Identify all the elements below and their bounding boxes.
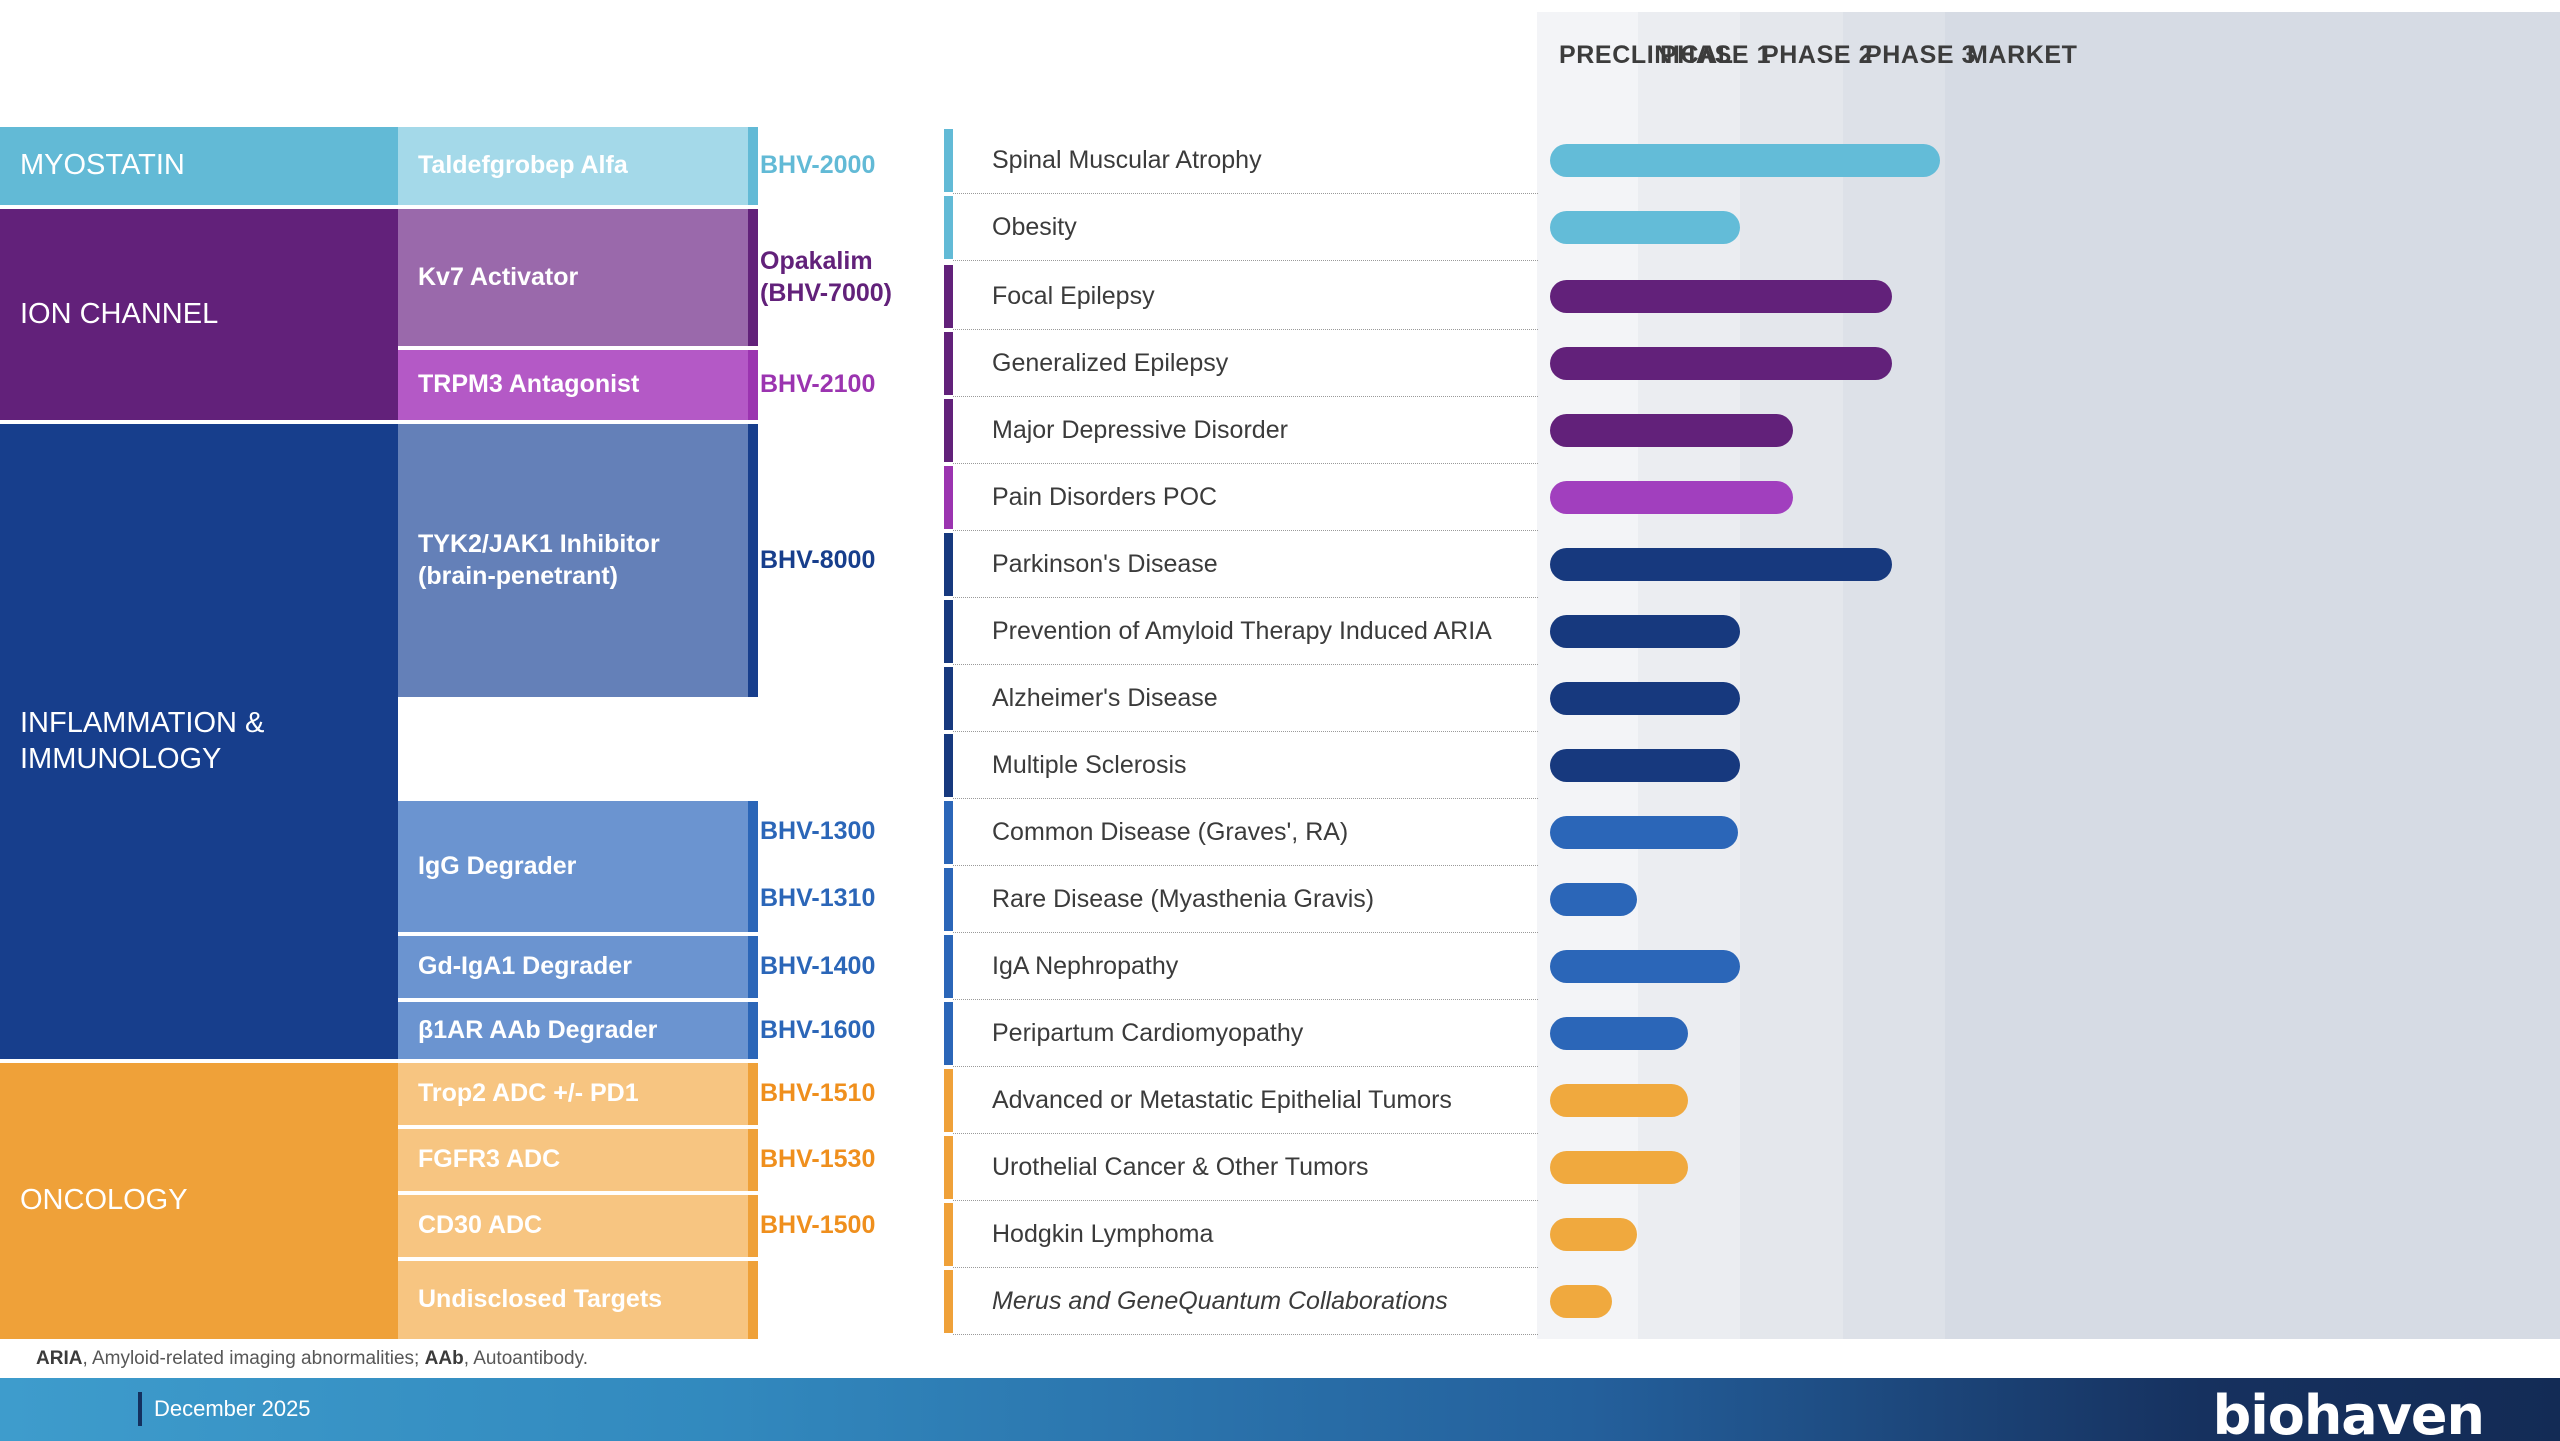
footer-date: December 2025	[154, 1396, 311, 1422]
footnote-abbrev-term: AAb	[425, 1348, 464, 1369]
progress-bar[interactable]	[1550, 1151, 1688, 1184]
molecule-label: TYK2/JAK1 Inhibitor (brain-penetrant)	[418, 529, 660, 592]
progress-bar[interactable]	[1550, 1285, 1612, 1318]
molecule-label: CD30 ADC	[418, 1210, 542, 1241]
program-code-opakalim[interactable]: Opakalim (BHV-7000)	[760, 209, 940, 346]
molecule-block-9[interactable]: FGFR3 ADC	[398, 1129, 758, 1191]
progress-bar[interactable]	[1550, 1218, 1637, 1251]
therapeutic-area-label: INFLAMMATION & IMMUNOLOGY	[20, 706, 264, 777]
market-ext-body	[2048, 127, 2560, 1339]
phase-header-phase-3[interactable]: PHASE 3	[1843, 0, 1945, 122]
indication-label: Common Disease (Graves', RA)	[992, 799, 1533, 866]
molecule-block-1[interactable]: Taldefgrobep Alfa	[398, 127, 758, 205]
indication-label: Hodgkin Lymphoma	[992, 1201, 1533, 1268]
indication-row[interactable]: IgA Nephropathy	[944, 933, 1537, 1000]
molecule-edge-accent	[748, 127, 758, 205]
indication-row[interactable]: Major Depressive Disorder	[944, 397, 1537, 464]
indication-label: Spinal Muscular Atrophy	[992, 127, 1533, 194]
progress-bar[interactable]	[1550, 481, 1793, 514]
indication-accent-bar	[944, 600, 953, 663]
indication-accent-bar	[944, 734, 953, 797]
indication-accent-bar	[944, 533, 953, 596]
pipeline-chart: PRECLINICALPHASE 1PHASE 2PHASE 3MARKET M…	[0, 0, 2560, 1441]
indication-row[interactable]: Peripartum Cardiomyopathy	[944, 1000, 1537, 1067]
indication-accent-bar	[944, 196, 953, 259]
indication-label: Pain Disorders POC	[992, 464, 1533, 531]
indication-label: Generalized Epilepsy	[992, 330, 1533, 397]
indication-row[interactable]: Hodgkin Lymphoma	[944, 1201, 1537, 1268]
molecule-block-11[interactable]: Undisclosed Targets	[398, 1261, 758, 1339]
program-code-bhv-1600[interactable]: BHV-1600	[760, 1002, 940, 1059]
indication-label: Alzheimer's Disease	[992, 665, 1533, 732]
progress-bar[interactable]	[1550, 144, 1940, 177]
therapeutic-area-label: MYOSTATIN	[20, 148, 185, 183]
molecule-edge-accent	[748, 801, 758, 932]
molecule-edge-accent	[748, 936, 758, 998]
program-code-bhv-2000[interactable]: BHV-2000	[760, 127, 940, 205]
program-code-bhv-2100[interactable]: BHV-2100	[760, 350, 940, 420]
indication-label: Urothelial Cancer & Other Tumors	[992, 1134, 1533, 1201]
molecule-block-7[interactable]: β1AR AAb Degrader	[398, 1002, 758, 1059]
indication-label: Obesity	[992, 194, 1533, 261]
indication-label: Peripartum Cardiomyopathy	[992, 1000, 1533, 1067]
biohaven-logo: biohaven	[2213, 1384, 2484, 1441]
therapeutic-area-oncology[interactable]: ONCOLOGY	[0, 1063, 398, 1339]
molecule-edge-accent	[748, 1129, 758, 1191]
progress-bar[interactable]	[1550, 1084, 1688, 1117]
program-code-bhv-1510[interactable]: BHV-1510	[760, 1063, 940, 1125]
indication-row[interactable]: Alzheimer's Disease	[944, 665, 1537, 732]
phase-header-market[interactable]: MARKET	[1945, 0, 2205, 122]
progress-bar[interactable]	[1550, 548, 1892, 581]
program-code-bhv-1530[interactable]: BHV-1530	[760, 1129, 940, 1191]
molecule-label: β1AR AAb Degrader	[418, 1015, 657, 1046]
molecule-edge-accent	[748, 1063, 758, 1125]
phase-header-preclinical[interactable]: PRECLINICAL	[1537, 0, 1638, 122]
footnote-abbrev-text: , Autoantibody.	[464, 1348, 588, 1369]
indication-accent-bar	[944, 801, 953, 864]
indication-accent-bar	[944, 1203, 953, 1266]
progress-bar[interactable]	[1550, 347, 1892, 380]
footer-bar: December 2025 biohaven	[0, 1378, 2560, 1441]
progress-bar[interactable]	[1550, 615, 1740, 648]
progress-bar[interactable]	[1550, 280, 1892, 313]
molecule-block-8[interactable]: Trop2 ADC +/- PD1	[398, 1063, 758, 1125]
indication-accent-bar	[944, 332, 953, 395]
program-code-bhv-1310[interactable]: BHV-1310	[760, 868, 940, 930]
indication-row[interactable]: Urothelial Cancer & Other Tumors	[944, 1134, 1537, 1201]
molecule-edge-accent	[748, 1002, 758, 1059]
progress-bar[interactable]	[1550, 950, 1740, 983]
molecule-label: Taldefgrobep Alfa	[418, 150, 628, 181]
molecule-label: Kv7 Activator	[418, 262, 578, 293]
indication-row[interactable]: Obesity	[944, 194, 1537, 261]
indication-accent-bar	[944, 466, 953, 529]
indication-row[interactable]: Advanced or Metastatic Epithelial Tumors	[944, 1067, 1537, 1134]
indication-row[interactable]: Multiple Sclerosis	[944, 732, 1537, 799]
progress-bar[interactable]	[1550, 1017, 1688, 1050]
indication-row[interactable]: Rare Disease (Myasthenia Gravis)	[944, 866, 1537, 933]
program-code-bhv-1500[interactable]: BHV-1500	[760, 1195, 940, 1257]
molecule-label: Trop2 ADC +/- PD1	[418, 1078, 639, 1109]
therapeutic-area-ion-channel[interactable]: ION CHANNEL	[0, 209, 398, 420]
indication-label: Multiple Sclerosis	[992, 732, 1533, 799]
molecule-block-6[interactable]: Gd-IgA1 Degrader	[398, 936, 758, 998]
indication-accent-bar	[944, 399, 953, 462]
indication-label: Merus and GeneQuantum Collaborations	[992, 1268, 1533, 1335]
molecule-edge-accent	[748, 424, 758, 697]
progress-bar[interactable]	[1550, 816, 1738, 849]
indication-accent-bar	[944, 1002, 953, 1065]
indication-label: IgA Nephropathy	[992, 933, 1533, 1000]
molecule-block-3[interactable]: TRPM3 Antagonist	[398, 350, 758, 420]
indication-label: Major Depressive Disorder	[992, 397, 1533, 464]
progress-bar[interactable]	[1550, 682, 1740, 715]
molecule-edge-accent	[748, 209, 758, 346]
program-code-bhv-1300[interactable]: BHV-1300	[760, 801, 940, 863]
indication-row[interactable]: Merus and GeneQuantum Collaborations	[944, 1268, 1537, 1335]
progress-bar[interactable]	[1550, 749, 1740, 782]
molecule-label: IgG Degrader	[418, 851, 576, 882]
molecule-label: TRPM3 Antagonist	[418, 369, 639, 400]
indication-accent-bar	[944, 667, 953, 730]
therapeutic-area-label: ONCOLOGY	[20, 1183, 188, 1218]
indication-row[interactable]: Generalized Epilepsy	[944, 330, 1537, 397]
indication-label: Parkinson's Disease	[992, 531, 1533, 598]
indication-label: Advanced or Metastatic Epithelial Tumors	[992, 1067, 1533, 1134]
molecule-label: Undisclosed Targets	[418, 1284, 662, 1315]
indication-accent-bar	[944, 1069, 953, 1132]
molecule-edge-accent	[748, 1195, 758, 1257]
footnote-abbreviations: ARIA, Amyloid-related imaging abnormalit…	[36, 1348, 588, 1370]
progress-bar[interactable]	[1550, 414, 1793, 447]
molecule-block-4[interactable]: TYK2/JAK1 Inhibitor (brain-penetrant)	[398, 424, 758, 697]
phase-band-body-5	[1945, 127, 2048, 1339]
molecule-block-10[interactable]: CD30 ADC	[398, 1195, 758, 1257]
footer-divider-tick	[138, 1392, 142, 1426]
indication-accent-bar	[944, 265, 953, 328]
phase-header-phase-1[interactable]: PHASE 1	[1638, 0, 1740, 122]
indication-label: Prevention of Amyloid Therapy Induced AR…	[992, 598, 1533, 665]
program-code-bhv-8000[interactable]: BHV-8000	[760, 424, 940, 697]
molecule-block-2[interactable]: Kv7 Activator	[398, 209, 758, 346]
indication-row[interactable]: Focal Epilepsy	[944, 263, 1537, 330]
indication-accent-bar	[944, 1270, 953, 1333]
molecule-edge-accent	[748, 1261, 758, 1339]
footnote-abbrev-text: , Amyloid-related imaging abnormalities;	[82, 1348, 424, 1369]
therapeutic-area-myostatin[interactable]: MYOSTATIN	[0, 127, 398, 205]
indication-row[interactable]: Common Disease (Graves', RA)	[944, 799, 1537, 866]
indication-row[interactable]: Prevention of Amyloid Therapy Induced AR…	[944, 598, 1537, 665]
indication-label: Focal Epilepsy	[992, 263, 1533, 330]
molecule-edge-accent	[748, 350, 758, 420]
molecule-label: FGFR3 ADC	[418, 1144, 560, 1175]
indication-row[interactable]: Pain Disorders POC	[944, 464, 1537, 531]
indication-accent-bar	[944, 1136, 953, 1199]
progress-bar[interactable]	[1550, 211, 1740, 244]
row-separator	[953, 260, 1538, 261]
indication-row[interactable]: Parkinson's Disease	[944, 531, 1537, 598]
molecule-label: Gd-IgA1 Degrader	[418, 951, 632, 982]
therapeutic-area-inflammation[interactable]: INFLAMMATION & IMMUNOLOGY	[0, 424, 398, 1059]
indication-accent-bar	[944, 935, 953, 998]
phase-header-phase-2[interactable]: PHASE 2	[1740, 0, 1843, 122]
row-separator	[953, 1334, 1538, 1335]
indication-accent-bar	[944, 129, 953, 192]
indication-label: Rare Disease (Myasthenia Gravis)	[992, 866, 1533, 933]
molecule-block-5[interactable]: IgG Degrader	[398, 801, 758, 932]
footnote-abbrev-term: ARIA	[36, 1348, 82, 1369]
indication-row[interactable]: Spinal Muscular Atrophy	[944, 127, 1537, 194]
program-code-bhv-1400[interactable]: BHV-1400	[760, 936, 940, 998]
indication-accent-bar	[944, 868, 953, 931]
phase-header-label: MARKET	[1967, 41, 2078, 70]
progress-bar[interactable]	[1550, 883, 1637, 916]
therapeutic-area-label: ION CHANNEL	[20, 297, 218, 332]
